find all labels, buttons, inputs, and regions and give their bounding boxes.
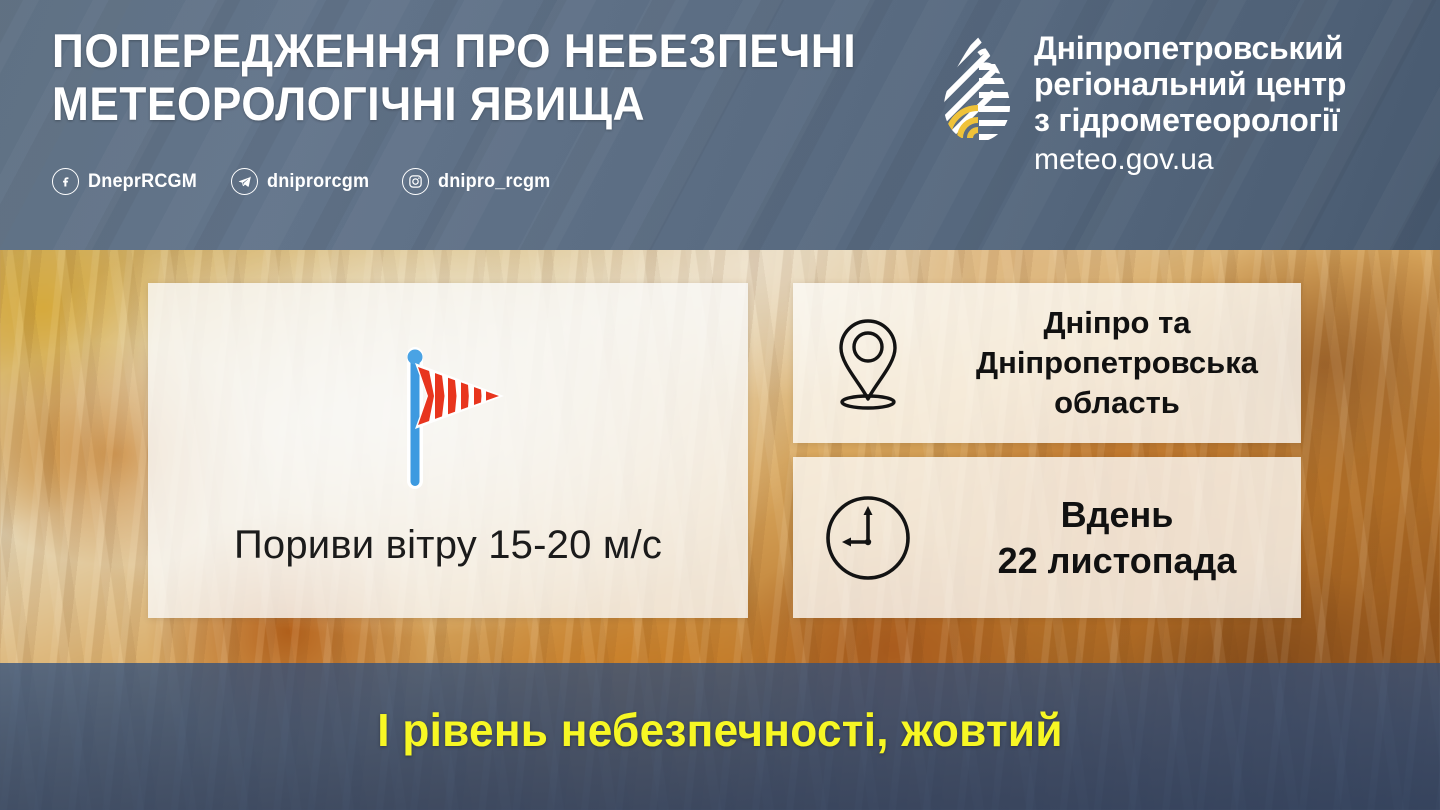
wind-flag-icon [382, 341, 514, 493]
page-title: ПОПЕРЕДЖЕННЯ ПРО НЕБЕЗПЕЧНІ МЕТЕОРОЛОГІЧ… [52, 24, 856, 130]
facebook-icon [52, 168, 79, 195]
telegram-icon [231, 168, 258, 195]
organization-logo-block: Дніпропетровський регіональний центр з г… [938, 30, 1346, 178]
time-card: Вдень 22 листопада [793, 457, 1301, 618]
danger-level-text: І рівень небезпечності, жовтий [29, 703, 1411, 757]
instagram-icon [402, 168, 429, 195]
wind-warning-label: Пориви вітру 15-20 м/с [234, 523, 662, 568]
header-band: ПОПЕРЕДЖЕННЯ ПРО НЕБЕЗПЕЧНІ МЕТЕОРОЛОГІЧ… [0, 0, 1440, 250]
organization-name-block: Дніпропетровський регіональний центр з г… [1034, 30, 1346, 178]
organization-name: Дніпропетровський регіональний центр з г… [1034, 30, 1346, 138]
location-row: Дніпро та Дніпропетровська область [793, 283, 1301, 443]
social-link-facebook[interactable]: DneprRCGM [52, 168, 203, 195]
social-links: DneprRCGM dniprorcgm d [52, 168, 557, 195]
location-card: Дніпро та Дніпропетровська область [793, 283, 1301, 443]
wind-warning-card: Пориви вітру 15-20 м/с [148, 283, 748, 618]
organization-website: meteo.gov.ua [1034, 142, 1346, 178]
social-handle-facebook: DneprRCGM [88, 171, 197, 193]
map-pin-icon [793, 315, 943, 411]
water-droplet-logo-icon [938, 34, 1016, 146]
social-handle-telegram: dniprorcgm [267, 171, 369, 193]
time-row: Вдень 22 листопада [793, 457, 1301, 618]
social-link-instagram[interactable]: dnipro_rcgm [402, 168, 556, 195]
clock-icon [793, 492, 943, 584]
weather-warning-poster: ПОПЕРЕДЖЕННЯ ПРО НЕБЕЗПЕЧНІ МЕТЕОРОЛОГІЧ… [0, 0, 1440, 810]
time-text: Вдень 22 листопада [943, 492, 1301, 584]
social-link-telegram[interactable]: dniprorcgm [231, 168, 375, 195]
social-handle-instagram: dnipro_rcgm [438, 171, 550, 193]
location-text: Дніпро та Дніпропетровська область [943, 303, 1301, 423]
